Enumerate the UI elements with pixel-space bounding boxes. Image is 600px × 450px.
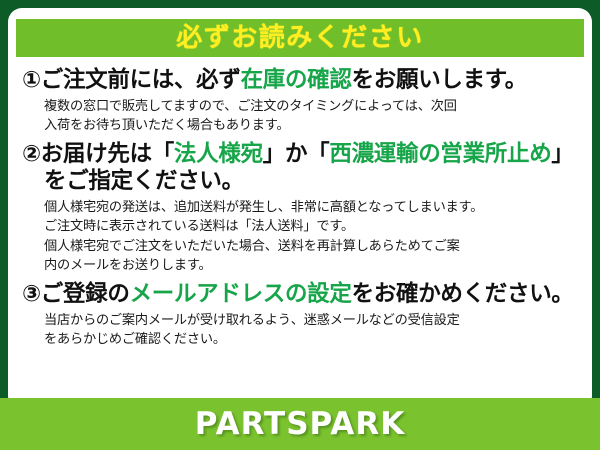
item-2-body-line-3: 個人様宅宛でご注文をいただいた場合、送料を再計算しあらためてご案 — [44, 237, 578, 256]
item-2-body: 個人様宅宛の発送は、追加送料が発生し、非常に高額となってしまいます。 ご注文時に… — [22, 198, 578, 275]
item-3-body-line-2: をあらかじめご確認ください。 — [44, 330, 578, 349]
item-3-marker: ③ — [22, 281, 41, 307]
item-3-body: 当店からのご案内メールが受け取れるよう、迷惑メールなどの受信設定 をあらかじめご… — [22, 311, 578, 349]
title-bar: 必ずお読みください — [16, 19, 584, 57]
notice-content: ①ご注文前には、必ず在庫の確認をお願いします。 複数の窓口で販売してますので、ご… — [8, 57, 592, 349]
item-2-head-emphasis-1: 法人様宛 — [174, 141, 263, 167]
notice-item-3: ③ご登録のメールアドレスの設定をお確かめください。 当店からのご案内メールが受け… — [22, 281, 578, 349]
notice-frame: 必ずお読みください ①ご注文前には、必ず在庫の確認をお願いします。 複数の窓口で… — [0, 0, 600, 404]
item-1-body-line-2: 入荷をお待ち頂いただく場合もあります。 — [44, 116, 578, 135]
item-3-head-emphasis: メールアドレスの設定 — [130, 281, 352, 307]
item-1-head-text-b: をお願いします。 — [352, 67, 527, 93]
item-2-head-text-c: 」 — [551, 141, 573, 167]
item-2-body-line-2: ご注文時に表示されている送料は「法人送料」です。 — [44, 217, 578, 236]
notice-title: 必ずお読みください — [176, 25, 424, 51]
item-1-marker: ① — [22, 67, 41, 93]
item-1-head-text-a: ご注文前には、必ず — [41, 67, 241, 93]
item-1-body: 複数の窓口で販売してますので、ご注文のタイミングによっては、次回 入荷をお待ち頂… — [22, 97, 578, 135]
item-2-head-text-b: 」か「 — [263, 141, 330, 167]
item-2-head-text-a: お届け先は「 — [41, 141, 174, 167]
item-3-head-text-a: ご登録の — [41, 281, 130, 307]
notice-item-1: ①ご注文前には、必ず在庫の確認をお願いします。 複数の窓口で販売してますので、ご… — [22, 67, 578, 135]
notice-panel: 必ずお読みください ①ご注文前には、必ず在庫の確認をお願いします。 複数の窓口で… — [8, 8, 592, 412]
item-1-head-emphasis: 在庫の確認 — [241, 67, 352, 93]
item-2-head-line-2: をご指定ください。 — [22, 168, 578, 195]
item-2-marker: ② — [22, 141, 41, 167]
item-3-heading: ③ご登録のメールアドレスの設定をお確かめください。 — [22, 281, 578, 308]
item-3-body-line-1: 当店からのご案内メールが受け取れるよう、迷惑メールなどの受信設定 — [44, 311, 578, 330]
item-1-heading: ①ご注文前には、必ず在庫の確認をお願いします。 — [22, 67, 578, 94]
item-2-heading: ②お届け先は「法人様宛」か「西濃運輸の営業所止め」をご指定ください。 — [22, 141, 578, 195]
footer-bar: PARTSPARK — [0, 398, 600, 450]
brand-logo-text: PARTSPARK — [195, 406, 406, 442]
item-1-body-line-1: 複数の窓口で販売してますので、ご注文のタイミングによっては、次回 — [44, 97, 578, 116]
notice-item-2: ②お届け先は「法人様宛」か「西濃運輸の営業所止め」をご指定ください。 個人様宅宛… — [22, 141, 578, 275]
item-2-body-line-4: 内のメールをお送りします。 — [44, 256, 578, 275]
notice-banner: 必ずお読みください ①ご注文前には、必ず在庫の確認をお願いします。 複数の窓口で… — [0, 0, 600, 450]
item-3-head-text-b: をお確かめください。 — [352, 281, 574, 307]
item-2-head-emphasis-2: 西濃運輸の営業所止め — [329, 141, 551, 167]
item-2-body-line-1: 個人様宅宛の発送は、追加送料が発生し、非常に高額となってしまいます。 — [44, 198, 578, 217]
